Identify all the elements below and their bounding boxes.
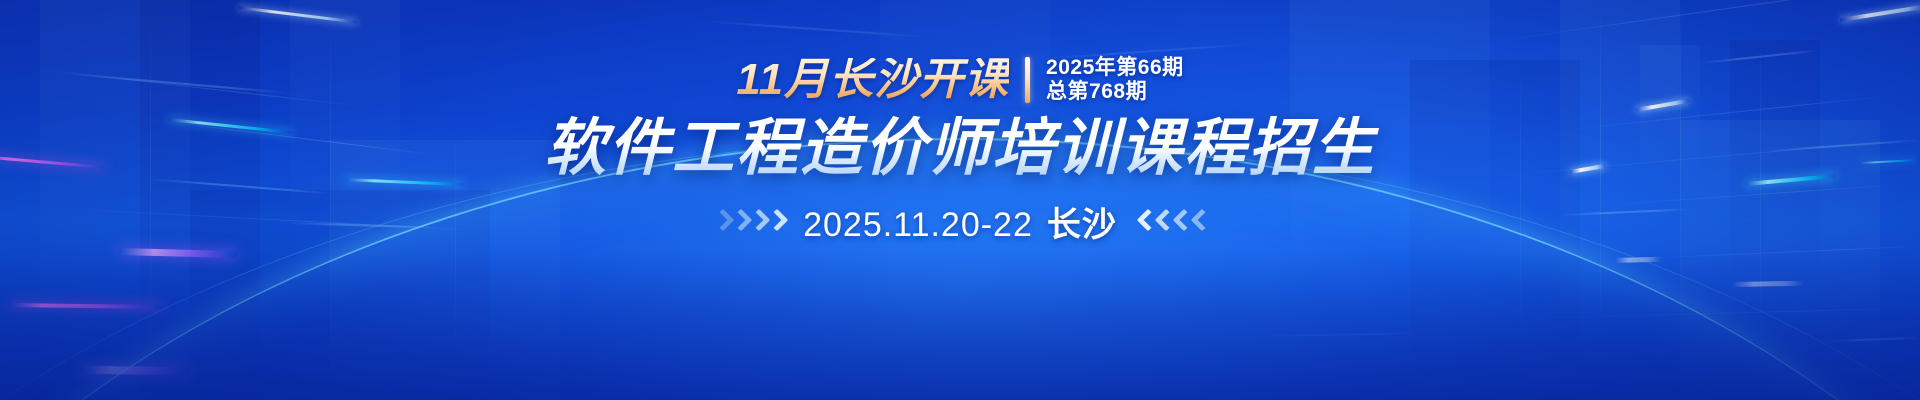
kicker-text: 11月长沙开课 — [736, 58, 1009, 102]
vertical-divider — [1025, 57, 1030, 103]
chevron-right-icon — [713, 208, 729, 234]
chevron-left-icon — [1155, 208, 1171, 234]
course-promo-banner: 11月长沙开课 2025年第66期 总第768期 软件工程造价师培训课程招生 2… — [0, 0, 1920, 400]
chevron-right-icon — [731, 208, 747, 234]
issue-line-1: 2025年第66期 — [1046, 56, 1184, 80]
banner-content: 11月长沙开课 2025年第66期 总第768期 软件工程造价师培训课程招生 2… — [0, 52, 1920, 243]
chevron-right-icon — [749, 208, 765, 234]
chevron-left-icon — [1137, 208, 1153, 234]
date-row: 2025.11.20-22长沙 — [0, 199, 1920, 243]
kicker-row: 11月长沙开课 2025年第66期 总第768期 — [0, 52, 1920, 108]
issue-info: 2025年第66期 总第768期 — [1046, 56, 1184, 104]
chevron-left-icon — [1191, 208, 1207, 234]
page-title: 软件工程造价师培训课程招生 — [0, 114, 1920, 183]
event-city: 长沙 — [1047, 206, 1117, 244]
issue-line-2: 总第768期 — [1046, 80, 1184, 104]
event-date: 2025.11.20-22 — [803, 206, 1033, 244]
chevron-right-icon — [767, 208, 783, 234]
chevron-right-group — [713, 208, 783, 234]
floor-gradient — [0, 250, 1920, 400]
chevron-left-icon — [1173, 208, 1189, 234]
event-date-location: 2025.11.20-22长沙 — [803, 197, 1117, 246]
chevron-left-group — [1137, 208, 1207, 234]
